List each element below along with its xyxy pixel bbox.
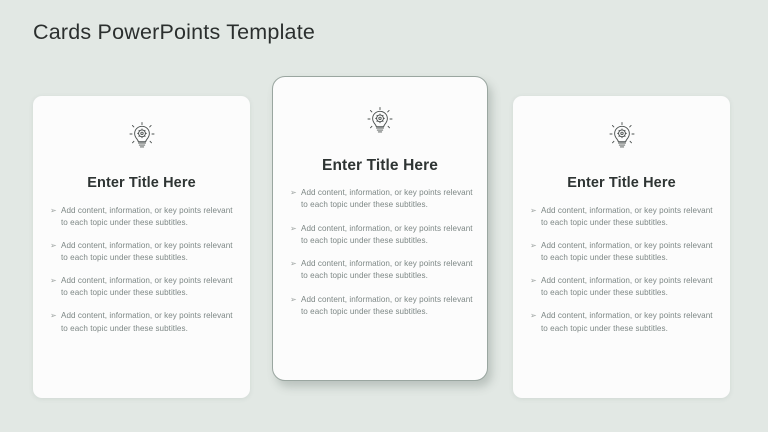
list-item-text: Add content, information, or key points … <box>541 240 717 265</box>
list-item: ➢ Add content, information, or key point… <box>530 205 717 230</box>
card-bullet-list: ➢ Add content, information, or key point… <box>273 187 487 329</box>
list-item: ➢ Add content, information, or key point… <box>290 187 474 212</box>
arrow-bullet-icon: ➢ <box>50 277 61 285</box>
card-bullet-list: ➢ Add content, information, or key point… <box>513 205 730 345</box>
slide-canvas: Cards PowerPoints Template Enter Title H… <box>0 0 768 432</box>
list-item-text: Add content, information, or key points … <box>541 275 717 300</box>
card-title: Enter Title Here <box>567 175 676 191</box>
arrow-bullet-icon: ➢ <box>290 296 301 304</box>
arrow-bullet-icon: ➢ <box>530 312 541 320</box>
arrow-bullet-icon: ➢ <box>530 242 541 250</box>
card-title: Enter Title Here <box>87 175 196 191</box>
card-center[interactable]: Enter Title Here ➢ Add content, informat… <box>272 76 488 381</box>
arrow-bullet-icon: ➢ <box>290 260 301 268</box>
arrow-bullet-icon: ➢ <box>530 277 541 285</box>
arrow-bullet-icon: ➢ <box>50 207 61 215</box>
arrow-bullet-icon: ➢ <box>290 189 301 197</box>
list-item-text: Add content, information, or key points … <box>541 310 717 335</box>
card-bullet-list: ➢ Add content, information, or key point… <box>33 205 250 345</box>
list-item: ➢ Add content, information, or key point… <box>50 310 237 335</box>
card-right[interactable]: Enter Title Here ➢ Add content, informat… <box>513 96 730 398</box>
list-item-text: Add content, information, or key points … <box>61 275 237 300</box>
list-item: ➢ Add content, information, or key point… <box>530 240 717 265</box>
arrow-bullet-icon: ➢ <box>50 312 61 320</box>
list-item: ➢ Add content, information, or key point… <box>50 205 237 230</box>
list-item-text: Add content, information, or key points … <box>61 310 237 335</box>
list-item: ➢ Add content, information, or key point… <box>530 275 717 300</box>
lightbulb-gear-icon <box>603 118 641 156</box>
list-item: ➢ Add content, information, or key point… <box>290 223 474 248</box>
list-item-text: Add content, information, or key points … <box>301 294 474 319</box>
list-item: ➢ Add content, information, or key point… <box>290 294 474 319</box>
lightbulb-gear-icon <box>123 118 161 156</box>
list-item: ➢ Add content, information, or key point… <box>50 240 237 265</box>
list-item-text: Add content, information, or key points … <box>301 223 474 248</box>
lightbulb-gear-icon <box>361 103 399 141</box>
list-item-text: Add content, information, or key points … <box>541 205 717 230</box>
list-item: ➢ Add content, information, or key point… <box>290 258 474 283</box>
list-item: ➢ Add content, information, or key point… <box>50 275 237 300</box>
list-item: ➢ Add content, information, or key point… <box>530 310 717 335</box>
arrow-bullet-icon: ➢ <box>290 225 301 233</box>
arrow-bullet-icon: ➢ <box>530 207 541 215</box>
card-left[interactable]: Enter Title Here ➢ Add content, informat… <box>33 96 250 398</box>
list-item-text: Add content, information, or key points … <box>61 205 237 230</box>
arrow-bullet-icon: ➢ <box>50 242 61 250</box>
list-item-text: Add content, information, or key points … <box>301 187 474 212</box>
card-title: Enter Title Here <box>322 157 438 175</box>
list-item-text: Add content, information, or key points … <box>61 240 237 265</box>
page-title: Cards PowerPoints Template <box>33 20 315 45</box>
list-item-text: Add content, information, or key points … <box>301 258 474 283</box>
